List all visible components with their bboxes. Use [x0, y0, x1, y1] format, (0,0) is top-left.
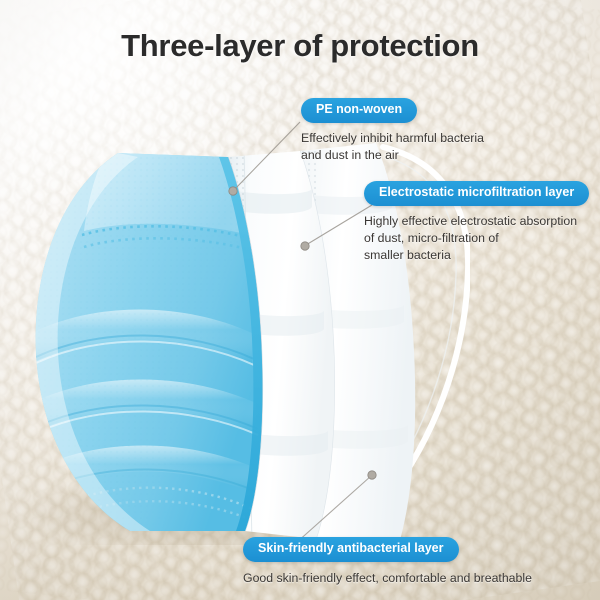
callout-label-skin-friendly-antibacterial-layer: Skin-friendly antibacterial layer	[243, 537, 459, 562]
callout-description-electrostatic-microfiltration-layer: Highly effective electrostatic absorptio…	[364, 213, 589, 265]
callout-pe-non-woven: PE non-woven Effectively inhibit harmful…	[301, 98, 484, 164]
mask-infographic: Three-layer of protection PE non-woven E…	[0, 0, 600, 600]
callout-description-skin-friendly-antibacterial-layer: Good skin-friendly effect, comfortable a…	[243, 570, 532, 587]
callout-skin-friendly-antibacterial-layer: Skin-friendly antibacterial layer Good s…	[243, 537, 532, 587]
callout-label-pe-non-woven: PE non-woven	[301, 98, 417, 123]
callout-label-electrostatic-microfiltration-layer: Electrostatic microfiltration layer	[364, 181, 589, 206]
callout-description-pe-non-woven: Effectively inhibit harmful bacteria and…	[301, 130, 484, 165]
page-title: Three-layer of protection	[0, 28, 600, 64]
callout-electrostatic-microfiltration-layer: Electrostatic microfiltration layer High…	[364, 181, 589, 265]
